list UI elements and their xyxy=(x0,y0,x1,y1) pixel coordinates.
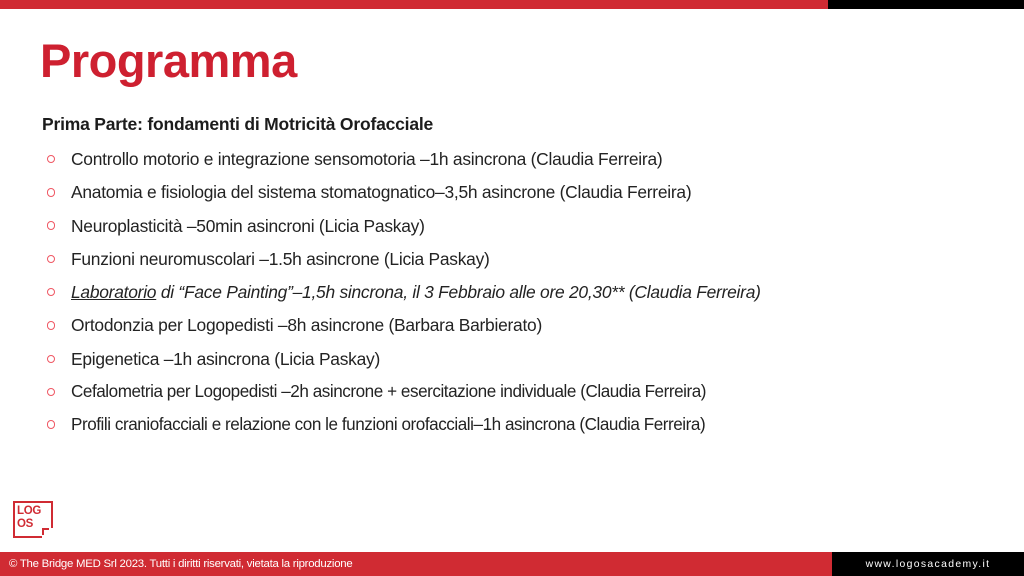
bullet-circle-icon xyxy=(47,255,55,263)
list-item: Controllo motorio e integrazione sensomo… xyxy=(42,148,992,170)
list-item: Neuroplasticità –50min asincroni (Licia … xyxy=(42,215,992,237)
bullet-circle-icon xyxy=(47,420,55,428)
top-bar-black-segment xyxy=(828,0,1024,9)
logo-corner-notch xyxy=(42,528,54,539)
bullet-circle-icon xyxy=(47,355,55,363)
website-url: www.logosacademy.it xyxy=(866,559,991,570)
bullet-circle-icon xyxy=(47,321,55,329)
list-item: Cefalometria per Logopedisti –2h asincro… xyxy=(42,381,992,403)
bullet-circle-icon xyxy=(47,388,55,396)
list-item-label: Anatomia e fisiologia del sistema stomat… xyxy=(71,182,691,202)
footer-red-segment: © The Bridge MED Srl 2023. Tutti i dirit… xyxy=(0,552,832,576)
logo-line-1: LOG xyxy=(17,505,41,518)
bullet-circle-icon xyxy=(47,288,55,296)
list-item: Epigenetica –1h asincrona (Licia Paskay) xyxy=(42,348,992,370)
list-item-label: Profili craniofacciali e relazione con l… xyxy=(71,415,705,434)
list-item: Profili craniofacciali e relazione con l… xyxy=(42,414,992,436)
list-item: Anatomia e fisiologia del sistema stomat… xyxy=(42,181,992,203)
list-item-label: Ortodonzia per Logopedisti –8h asincrone… xyxy=(71,315,542,335)
list-item-label: Epigenetica –1h asincrona (Licia Paskay) xyxy=(71,349,380,369)
list-item-label: Neuroplasticità –50min asincroni (Licia … xyxy=(71,216,425,236)
list-item-label: Cefalometria per Logopedisti –2h asincro… xyxy=(71,382,706,401)
list-item-label: Controllo motorio e integrazione sensomo… xyxy=(71,149,662,169)
list-item-label: di “Face Painting”–1,5h sincrona, il 3 F… xyxy=(156,282,760,302)
footer-black-segment: www.logosacademy.it xyxy=(832,552,1024,576)
top-accent-bar xyxy=(0,0,1024,9)
bullet-circle-icon xyxy=(47,221,55,229)
page-title: Programma xyxy=(40,36,297,85)
footer-bar: © The Bridge MED Srl 2023. Tutti i dirit… xyxy=(0,552,1024,576)
list-item-lead-label: Laboratorio xyxy=(71,282,156,302)
list-item: Ortodonzia per Logopedisti –8h asincrone… xyxy=(42,314,992,336)
list-item-label: Funzioni neuromuscolari –1.5h asincrone … xyxy=(71,249,490,269)
list-item: Funzioni neuromuscolari –1.5h asincrone … xyxy=(42,248,992,270)
logos-logo: LOG OS xyxy=(13,501,53,538)
slide-content: Prima Parte: fondamenti di Motricità Oro… xyxy=(42,114,992,447)
bullet-circle-icon xyxy=(47,188,55,196)
section-heading: Prima Parte: fondamenti di Motricità Oro… xyxy=(42,114,992,135)
copyright-text: © The Bridge MED Srl 2023. Tutti i dirit… xyxy=(0,558,352,570)
top-bar-red-segment xyxy=(0,0,828,9)
program-list: Controllo motorio e integrazione sensomo… xyxy=(42,148,992,436)
list-item-laboratorio: Laboratorio di “Face Painting”–1,5h sinc… xyxy=(42,281,992,303)
logo-line-2: OS xyxy=(17,518,41,531)
logo-wordmark: LOG OS xyxy=(17,505,41,530)
bullet-circle-icon xyxy=(47,155,55,163)
